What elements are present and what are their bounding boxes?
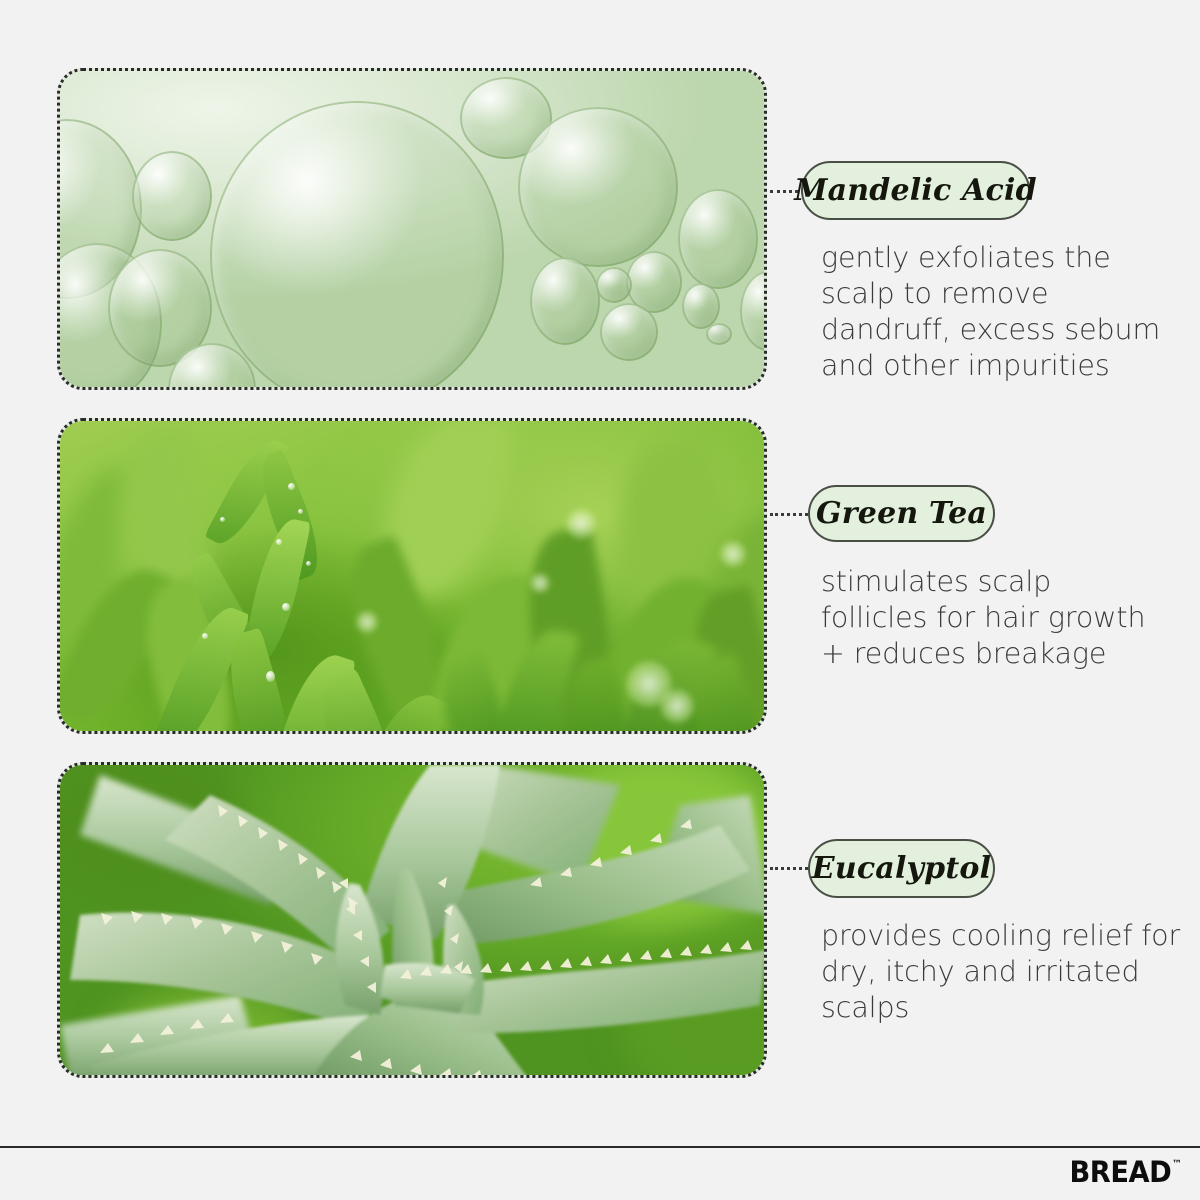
connector-eucalyptol (770, 867, 808, 870)
ingredient-label-eucalyptol: Eucalyptol (812, 851, 991, 886)
ingredient-image-green-tea (60, 421, 764, 731)
connector-green-tea (770, 513, 808, 516)
ingredient-image-eucalyptol (60, 765, 764, 1075)
ingredient-pill-eucalyptol[interactable]: Eucalyptol (808, 839, 995, 898)
ingredient-card-eucalyptol (57, 762, 767, 1078)
ingredient-pill-green-tea[interactable]: Green Tea (808, 485, 995, 542)
ingredient-description-eucalyptol: provides cooling relief for dry, itchy a… (821, 918, 1181, 1026)
ingredient-label-green-tea: Green Tea (816, 496, 987, 531)
ingredient-image-mandelic-acid (60, 71, 764, 387)
ingredient-pill-mandelic-acid[interactable]: Mandelic Acid (801, 161, 1030, 220)
brand-name: BREAD (1069, 1158, 1171, 1187)
footer-divider (0, 1146, 1200, 1148)
ingredient-card-green-tea (57, 418, 767, 734)
aloe-rosette-shape (60, 765, 764, 1075)
trademark-symbol: ™ (1172, 1160, 1182, 1170)
ingredient-label-mandelic-acid: Mandelic Acid (794, 173, 1037, 208)
infographic-canvas: Mandelic Acid gently exfoliates the scal… (0, 0, 1200, 1200)
brand-logo: BREAD ™ (1063, 1158, 1182, 1187)
ingredient-description-mandelic-acid: gently exfoliates the scalp to remove da… (821, 240, 1181, 384)
ingredient-card-mandelic-acid (57, 68, 767, 390)
ingredient-description-green-tea: stimulates scalp follicles for hair grow… (821, 564, 1181, 672)
